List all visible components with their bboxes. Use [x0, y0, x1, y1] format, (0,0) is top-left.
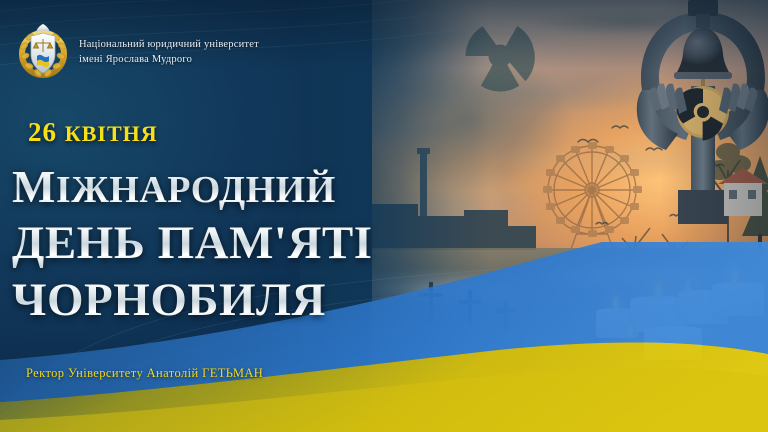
header: Національний юридичний університет імені…: [18, 24, 259, 80]
memorial-candles: [592, 268, 768, 364]
poster-root: Національний юридичний університет імені…: [0, 0, 768, 432]
title-line-3: ЧОРНОБИЛЯ: [12, 273, 326, 327]
cross: [496, 300, 516, 330]
title-line-2: ДЕНЬ ПАМ'ЯТІ: [12, 216, 373, 270]
date-number: 26: [28, 117, 57, 147]
title-line-1-rest: ІЖНАРОДНИЙ: [56, 169, 336, 211]
rector-signature: Ректор Університету Анатолій ГЕТЬМАН: [26, 366, 263, 381]
candle-flame: [626, 322, 634, 337]
university-name-line1: Національний юридичний університет: [79, 39, 259, 50]
title-line-1: МІЖНАРОДНИЙ: [12, 160, 336, 213]
candle-flame: [684, 278, 692, 293]
university-coat-of-arms-icon: [18, 24, 68, 80]
abandoned-house: [718, 168, 768, 216]
university-name-line2: імені Ярослава Мудрого: [79, 52, 259, 67]
candle: [644, 330, 702, 360]
candle: [712, 286, 764, 316]
candle-flame: [612, 294, 620, 309]
date-month: КВІТНЯ: [65, 121, 158, 146]
title-line-1-initial: М: [12, 161, 56, 212]
event-date: 26 КВІТНЯ: [28, 117, 158, 148]
candle-flame: [730, 268, 739, 285]
candle-flame: [654, 280, 663, 297]
university-name: Національний юридичний університет імені…: [79, 37, 259, 67]
